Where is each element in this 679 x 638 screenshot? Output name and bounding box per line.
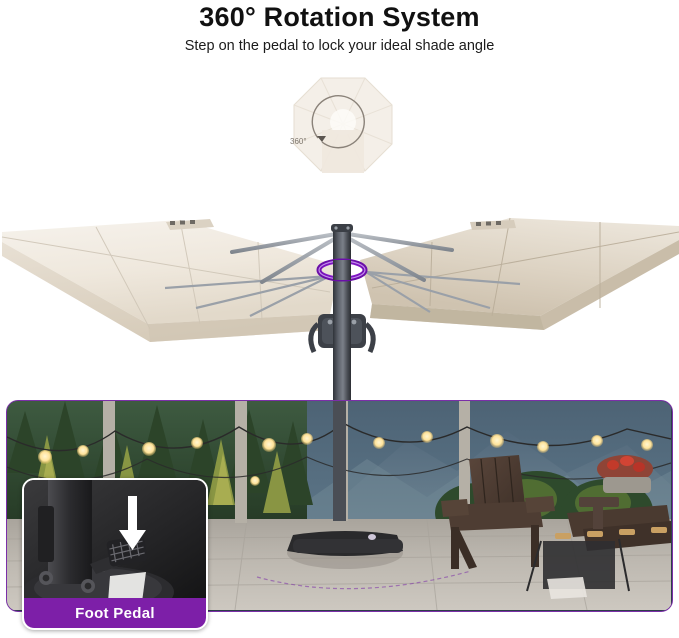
product-feature-page: 360° Rotation System Step on the pedal t… — [0, 0, 679, 638]
left-canopy — [2, 219, 340, 342]
pole-plate — [38, 506, 54, 562]
right-canopy — [360, 218, 679, 330]
flower-planter — [597, 455, 653, 493]
pole — [48, 480, 92, 584]
hub-bracket — [311, 314, 373, 352]
rotation-diagram: 360° — [288, 72, 398, 178]
chair-armrest-left — [441, 499, 469, 517]
foot-pedal-label: Foot Pedal — [24, 598, 206, 628]
umbrella-pole-lower — [333, 401, 346, 521]
umbrella-base — [287, 531, 403, 569]
foot-pedal-photo — [24, 480, 206, 598]
page-title: 360° Rotation System — [0, 2, 679, 33]
octagon-canopy — [294, 78, 392, 173]
cantilever-umbrella-render — [0, 196, 679, 426]
chair-armrest-right — [525, 496, 555, 513]
foot-pedal-inset-card: Foot Pedal — [22, 478, 208, 630]
pole-cap — [331, 224, 353, 232]
page-subtitle: Step on the pedal to lock your ideal sha… — [0, 38, 679, 54]
angle-label: 360° — [290, 137, 307, 146]
